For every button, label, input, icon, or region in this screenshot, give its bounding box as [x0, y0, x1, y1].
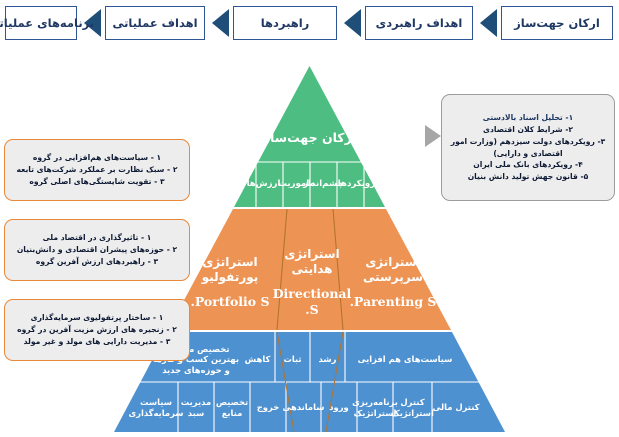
- callout-directional-item-3: ۳ - راهبردهای ارزش آفرین گروه: [12, 256, 182, 268]
- callout-parenting-item-1: ۱ - سیاست‌های هم‌افزایی در گروه: [12, 152, 182, 164]
- callout-directional-item-1: ۱ - تاثیرگذاری در اقتصاد ملی: [12, 232, 182, 244]
- callout-upstream-item-4: ۴- رویکردهای بانک ملی ایران: [449, 159, 607, 171]
- callout-parenting-strategy[interactable]: ۱ - سیاست‌های هم‌افزایی در گروه ۲ - سبک …: [4, 139, 190, 201]
- flow-step-2[interactable]: اهداف راهبردی: [365, 6, 473, 40]
- flow-step-1-label: ارکان جهت‌ساز: [514, 16, 600, 30]
- middle-column-directional-fa: استراتژی هدایتی: [281, 247, 343, 277]
- flow-step-1[interactable]: ارکان جهت‌ساز: [501, 6, 613, 40]
- flow-arrow-2-icon: [344, 9, 361, 37]
- base-row1-cell-growth[interactable]: رشد: [310, 337, 345, 382]
- callout-upstream-item-2: ۲- شرایط کلان اقتصادی: [449, 124, 607, 136]
- callout-portfolio-strategy[interactable]: ۱ - ساختار پرتفولیوی سرمایه‌گذاری ۲ - زن…: [4, 299, 190, 361]
- middle-column-parenting[interactable]: استراتژی سرپرستی Parenting S.: [343, 242, 443, 322]
- middle-column-portfolio[interactable]: استراتژی پورتفولیو Portfolio S.: [180, 242, 280, 322]
- apex-title: ارکان جهت‌ساز: [230, 130, 390, 145]
- base-row2-cell-resource-allocation[interactable]: تخصیص منابع: [214, 385, 250, 430]
- base-row2-cell-investment-policy[interactable]: سیاست سرمایه‌گذاری: [134, 385, 178, 430]
- base-row1-cell-synergy-policies[interactable]: سیاست‌های هم افزایی: [345, 337, 465, 382]
- callout-directional-strategy[interactable]: ۱ - تاثیرگذاری در اقتصاد ملی ۲ - حوزه‌ها…: [4, 219, 190, 281]
- callout-upstream-item-3: ۳- رویکردهای دولت سیزدهم (وزارت امور اقت…: [449, 136, 607, 160]
- callout-upstream-item-5: ۵- قانون جهش تولید دانش بنیان: [449, 171, 607, 183]
- base-row2-cell-exit[interactable]: خروج: [250, 385, 286, 430]
- diagram-root: ارکان جهت‌ساز اهداف راهبردی راهبردها اهد…: [0, 0, 619, 437]
- flow-step-4-label: اهداف عملیاتی: [112, 16, 197, 30]
- callout-portfolio-item-1: ۱ - ساختار پرتفولیوی سرمایه‌گذاری: [12, 312, 182, 324]
- flow-arrow-1-icon: [480, 9, 497, 37]
- apex-cell-values[interactable]: ارزش‌ها: [244, 162, 283, 207]
- process-flow: ارکان جهت‌ساز اهداف راهبردی راهبردها اهد…: [0, 0, 619, 52]
- callout-upstream-item-1: ۱- تحلیل اسناد بالادستی: [449, 112, 607, 124]
- callout-upstream-inputs[interactable]: ۱- تحلیل اسناد بالادستی ۲- شرایط کلان اق…: [441, 94, 615, 201]
- callout-directional-item-2: ۲ - حوزه‌های پیشران اقتصادی و دانش‌بنیان: [12, 244, 182, 256]
- base-row2-cell-strategic-planning[interactable]: برنامه‌ریزی استراتژیک: [357, 385, 393, 430]
- callout-pointer-icon: [425, 125, 441, 147]
- flow-step-5[interactable]: برنامه‌های عملیاتی: [5, 6, 77, 40]
- flow-step-4[interactable]: اهداف عملیاتی: [105, 6, 205, 40]
- middle-column-portfolio-en: Portfolio S.: [190, 294, 269, 310]
- middle-column-portfolio-fa: استراتژی پورتفولیو: [180, 255, 280, 285]
- callout-portfolio-item-3: ۳ - مدیریت دارایی های مولد و غیر مولد: [12, 336, 182, 348]
- callout-portfolio-item-2: ۲ - زنجیره های ارزش مزیت آفرین در گروه: [12, 324, 182, 336]
- base-row2-cell-entry[interactable]: ورود: [321, 385, 357, 430]
- flow-step-2-label: اهداف راهبردی: [376, 16, 463, 30]
- flow-arrow-3-icon: [212, 9, 229, 37]
- base-row1-cell-stability[interactable]: ثبات: [275, 337, 310, 382]
- middle-column-parenting-fa: استراتژی سرپرستی: [343, 255, 443, 285]
- middle-column-directional[interactable]: استراتژی هدایتی Directional S.: [281, 242, 343, 322]
- middle-column-parenting-en: Parenting S.: [350, 294, 437, 310]
- flow-step-5-label: برنامه‌های عملیاتی: [0, 16, 94, 30]
- callout-parenting-item-3: ۳ - تقویت شایستگی‌های اصلی گروه: [12, 176, 182, 188]
- callout-parenting-item-2: ۲ - سبک نظارت بر عملکرد شرکت‌های تابعه: [12, 164, 182, 176]
- base-row2-cell-restructuring[interactable]: ساماندهی: [286, 385, 321, 430]
- base-row2-cell-financial-control[interactable]: کنترل مالی: [432, 385, 480, 430]
- base-row1-cell-reduction[interactable]: کاهش: [240, 337, 275, 382]
- apex-cell-mission[interactable]: ماموریت: [283, 162, 310, 207]
- flow-step-3[interactable]: راهبردها: [233, 6, 337, 40]
- middle-column-directional-en: Directional S.: [273, 286, 352, 317]
- base-row2-cell-strategic-control[interactable]: کنترل استراتژیک: [393, 385, 432, 430]
- flow-step-3-label: راهبردها: [261, 16, 310, 30]
